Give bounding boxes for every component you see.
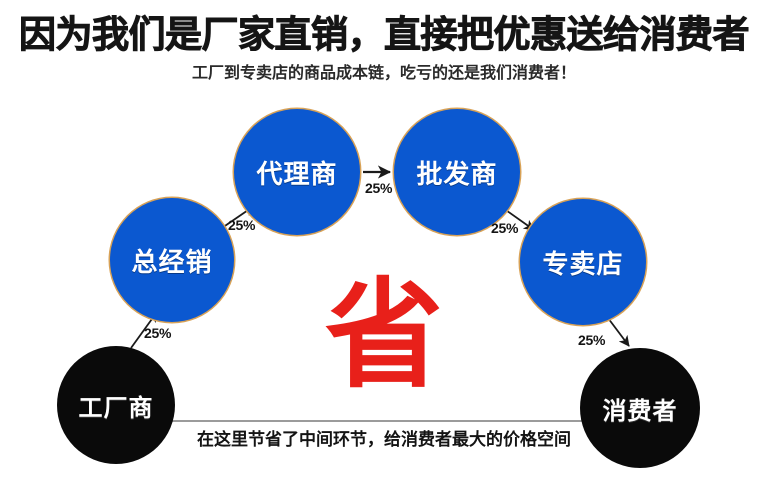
node-consumer-label: 消费者: [603, 391, 678, 426]
edge-label-distributor-to-agent: 25%: [228, 217, 255, 233]
promo-diagram-page: 因为我们是厂家直销，直接把优惠送给消费者 工厂到专卖店的商品成本链，吃亏的还是我…: [0, 0, 768, 485]
node-factory-label: 工厂商: [79, 388, 154, 423]
edge-label-wholesaler-to-retailer: 25%: [491, 220, 518, 236]
supply-chain-diagram: 工厂商 总经销 代理商 批发商 专卖店 消费者 25% 25% 25% 25% …: [0, 0, 768, 485]
arrow-retailer-to-consumer: [608, 318, 629, 346]
savings-glyph: 省: [300, 272, 468, 397]
node-distributor[interactable]: 总经销: [110, 198, 234, 322]
node-retailer-label: 专卖店: [542, 244, 623, 281]
edge-label-factory-to-distributor: 25%: [144, 325, 171, 341]
node-wholesaler-label: 批发商: [416, 154, 497, 191]
footer-caption: 在这里节省了中间环节，给消费者最大的价格空间: [0, 428, 768, 452]
node-retailer[interactable]: 专卖店: [520, 199, 646, 325]
edge-label-agent-to-wholesaler: 25%: [365, 180, 392, 196]
node-agent-label: 代理商: [256, 154, 337, 191]
node-distributor-label: 总经销: [131, 242, 212, 279]
edge-label-retailer-to-consumer: 25%: [578, 332, 605, 348]
node-wholesaler[interactable]: 批发商: [394, 109, 520, 235]
